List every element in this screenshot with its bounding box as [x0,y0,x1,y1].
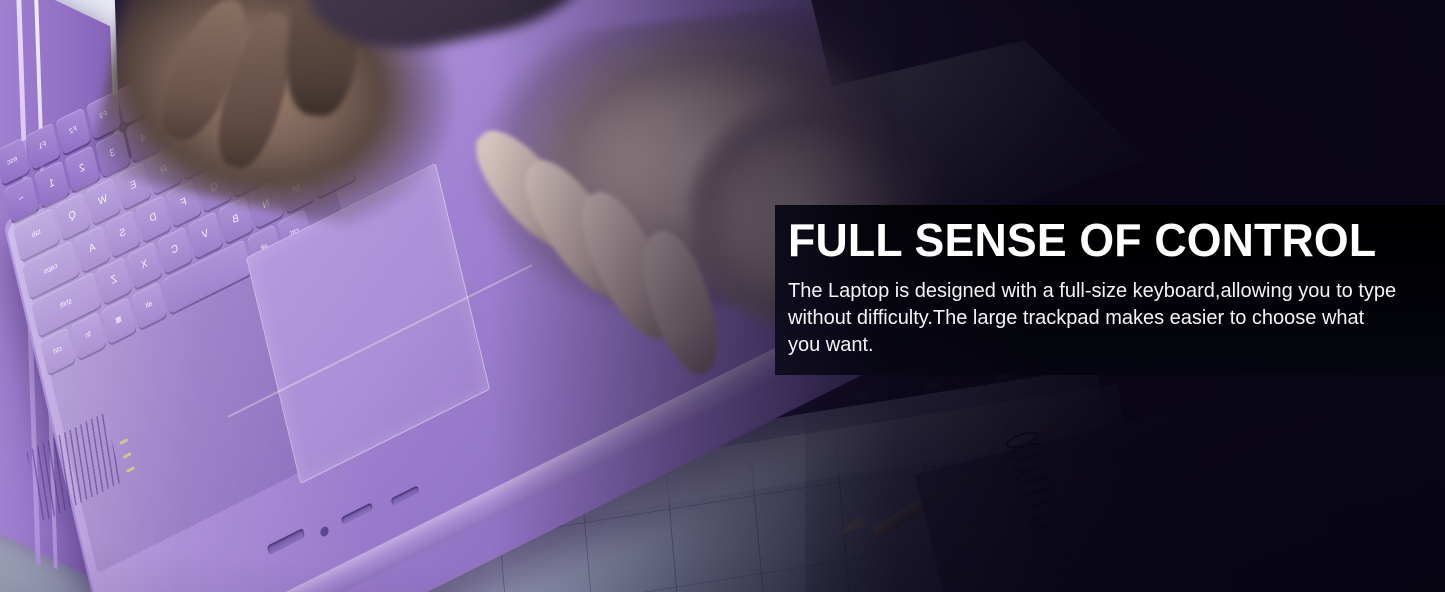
promo-banner: 0 5 10 15 20 25 30 35 40 45 40 10 esc F1… [0,0,1445,592]
caption-body-text: The Laptop is designed with a full-size … [788,278,1400,359]
caption-headline: FULL SENSE OF CONTROL [788,217,1408,264]
caption-panel: FULL SENSE OF CONTROL The Laptop is desi… [775,205,1445,375]
